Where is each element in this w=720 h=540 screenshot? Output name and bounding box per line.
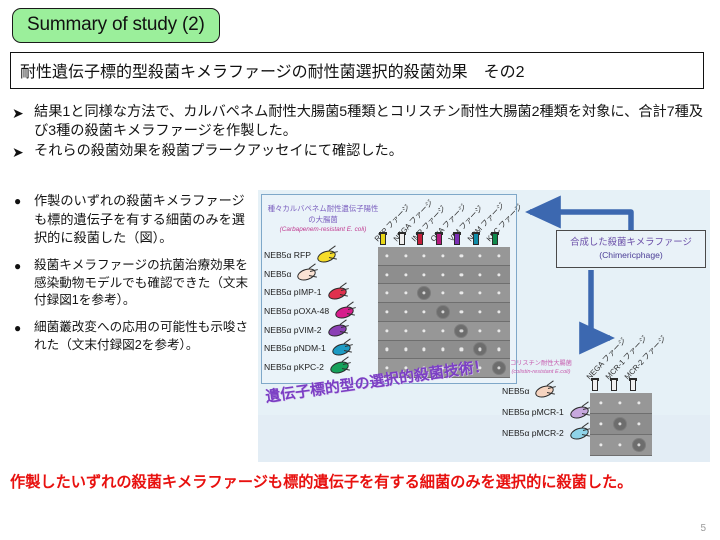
strain-label: NEB5α pMCR-1 — [502, 407, 564, 417]
phage-tube-icon — [454, 232, 460, 245]
bacteria-icon — [326, 323, 347, 336]
colistin-title-en: (colistin-resistant E.coli) — [502, 369, 580, 377]
carbapenem-panel-title: 種々カルバペネム耐性遺伝子陽性の大腸菌 (Carbapenem-resistan… — [264, 204, 382, 235]
assay-spot — [423, 348, 426, 351]
summary-of-study-tag: Summary of study (2) — [12, 8, 220, 43]
assay-spot — [460, 254, 463, 257]
bacteria-icon — [533, 384, 554, 397]
strain-label: NEB5α pMCR-2 — [502, 428, 564, 438]
assay-spot — [423, 329, 426, 332]
arrow-bullet-text: 結果1と同様な方法で、カルバペネム耐性大腸菌5種類とコリスチン耐性大腸菌2種類を… — [34, 103, 712, 141]
strain-row: NEB5α pMCR-1 — [502, 401, 588, 422]
colistin-strain-list: NEB5αNEB5α pMCR-1NEB5α pMCR-2 — [502, 380, 588, 443]
arrow-bullet-icon: ➤ — [12, 103, 34, 123]
strain-row: NEB5α pVIM-2 — [264, 320, 384, 339]
strain-row: NEB5α pMCR-2 — [502, 422, 588, 443]
phage-tube-icon — [492, 232, 498, 245]
strain-row: NEB5α pNDM-1 — [264, 339, 384, 358]
assay-spot — [478, 310, 481, 313]
strain-label: NEB5α pKPC-2 — [264, 362, 324, 372]
assay-spot — [478, 329, 481, 332]
gel-row — [378, 247, 510, 266]
carbapenem-strain-list: NEB5α RFPNEB5αNEB5α pIMP-1NEB5α pOXA-48N… — [264, 246, 384, 376]
plaque-spot — [632, 438, 646, 452]
dot-bullet-icon: ● — [14, 319, 34, 337]
colistin-title-jp: コリスチン耐性大腸菌 — [502, 360, 580, 369]
gel-row — [590, 393, 652, 414]
assay-spot — [441, 254, 444, 257]
assay-spot — [497, 292, 500, 295]
phage-tube-icon — [630, 378, 636, 391]
plaque-spot — [454, 324, 468, 338]
strain-row: NEB5α — [264, 265, 384, 284]
assay-spot — [441, 273, 444, 276]
chimeric-phage-box: 合成した殺菌キメラファージ (Chimericphage) — [556, 230, 706, 268]
phage-tube-icon — [592, 378, 598, 391]
dot-bullet-icon: ● — [14, 192, 34, 210]
conclusion-statement: 作製したいずれの殺菌キメラファージも標的遺伝子を有する細菌のみを選択的に殺菌した… — [10, 470, 716, 492]
phage-tube-icon — [417, 232, 423, 245]
assay-spot — [599, 422, 602, 425]
phage-tube-icon — [399, 232, 405, 245]
strain-row: NEB5α RFP — [264, 246, 384, 265]
assay-spot — [637, 401, 640, 404]
bacteria-icon — [333, 305, 354, 318]
assay-spot — [497, 273, 500, 276]
colistin-panel: コリスチン耐性大腸菌 (colistin-resistant E.coli) N… — [502, 338, 707, 458]
assay-spot — [460, 310, 463, 313]
phage-tube-icon — [380, 232, 386, 245]
assay-spot — [478, 292, 481, 295]
assay-spot — [599, 443, 602, 446]
carbapenem-title-en: (Carbapenem-resistant E. coli) — [264, 225, 382, 234]
colistin-panel-title: コリスチン耐性大腸菌 (colistin-resistant E.coli) — [502, 360, 580, 377]
assay-spot — [404, 254, 407, 257]
assay-spot — [618, 443, 621, 446]
assay-spot — [404, 310, 407, 313]
colistin-plaque-assay-gel — [590, 393, 652, 456]
assay-spot — [460, 273, 463, 276]
strain-label: NEB5α — [502, 386, 529, 396]
plaque-spot — [417, 286, 431, 300]
dot-bullet-list: ● 作製のいずれの殺菌キメラファージも標的遺伝子を有する細菌のみを選択的に殺菌し… — [14, 192, 250, 363]
assay-spot — [478, 254, 481, 257]
assay-spot — [441, 348, 444, 351]
assay-spot — [637, 422, 640, 425]
slide-canvas: Summary of study (2) 耐性遺伝子標的型殺菌キメラファージの耐… — [0, 0, 720, 540]
assay-spot — [385, 292, 388, 295]
strain-label: NEB5α pNDM-1 — [264, 343, 326, 353]
dot-bullet-text: 細菌叢改変への応用の可能性も示唆された（文末付録図2を参考）。 — [34, 319, 250, 354]
assay-spot — [460, 348, 463, 351]
strain-row: NEB5α — [502, 380, 588, 401]
chimeric-phage-label-en: (Chimericphage) — [559, 249, 703, 262]
arrow-bullet-item: ➤ 結果1と同様な方法で、カルバペネム耐性大腸菌5種類とコリスチン耐性大腸菌2種… — [12, 103, 712, 141]
bacteria-icon — [328, 360, 349, 373]
strain-label: NEB5α pVIM-2 — [264, 325, 322, 335]
strain-row: NEB5α pOXA-48 — [264, 302, 384, 321]
assay-spot — [497, 348, 500, 351]
assay-spot — [385, 254, 388, 257]
arrow-bullet-icon: ➤ — [12, 142, 34, 162]
assay-spot — [404, 292, 407, 295]
assay-spot — [404, 329, 407, 332]
assay-spot — [618, 401, 621, 404]
bacteria-icon — [568, 426, 589, 439]
assay-spot — [423, 254, 426, 257]
assay-spot — [385, 310, 388, 313]
assay-spot — [441, 329, 444, 332]
assay-spot — [478, 273, 481, 276]
strain-row: NEB5α pIMP-1 — [264, 283, 384, 302]
assay-spot — [404, 348, 407, 351]
strain-label: NEB5α pOXA-48 — [264, 306, 329, 316]
gel-row — [378, 341, 510, 360]
assay-spot — [497, 329, 500, 332]
carbapenem-plaque-assay-gel — [378, 247, 510, 378]
arrow-bullet-list: ➤ 結果1と同様な方法で、カルバペネム耐性大腸菌5種類とコリスチン耐性大腸菌2種… — [12, 103, 712, 163]
gel-row — [378, 303, 510, 322]
assay-spot — [423, 310, 426, 313]
slide-subtitle-bar: 耐性遺伝子標的型殺菌キメラファージの耐性菌選択的殺菌効果 その2 — [10, 52, 704, 89]
dot-bullet-icon: ● — [14, 257, 34, 275]
gel-row — [590, 414, 652, 435]
gel-row — [378, 322, 510, 341]
plaque-spot — [613, 417, 627, 431]
assay-spot — [423, 273, 426, 276]
assay-spot — [497, 254, 500, 257]
experiment-figure: 種々カルバペネム耐性遺伝子陽性の大腸菌 (Carbapenem-resistan… — [258, 190, 710, 462]
phage-tube-icon — [473, 232, 479, 245]
assay-spot — [385, 329, 388, 332]
chimeric-phage-label-jp: 合成した殺菌キメラファージ — [559, 235, 703, 249]
assay-spot — [441, 292, 444, 295]
assay-spot — [385, 273, 388, 276]
assay-spot — [599, 401, 602, 404]
gel-row — [378, 266, 510, 285]
bacteria-icon — [326, 286, 347, 299]
phage-tube-icon — [611, 378, 617, 391]
bacteria-icon — [315, 249, 336, 262]
strain-label: NEB5α RFP — [264, 250, 311, 260]
assay-spot — [404, 273, 407, 276]
dot-bullet-text: 殺菌キメラファージの抗菌治療効果を感染動物モデルでも確認できた（文末付録図1を参… — [34, 257, 250, 310]
page-number: 5 — [700, 523, 706, 534]
assay-spot — [385, 348, 388, 351]
carbapenem-title-jp: 種々カルバペネム耐性遺伝子陽性の大腸菌 — [264, 204, 382, 225]
bacteria-icon — [295, 267, 316, 280]
arrow-bullet-item: ➤ それらの殺菌効果を殺菌プラークアッセイにて確認した。 — [12, 142, 712, 162]
dot-bullet-text: 作製のいずれの殺菌キメラファージも標的遺伝子を有する細菌のみを選択的に殺菌した（… — [34, 192, 250, 248]
assay-spot — [497, 310, 500, 313]
dot-bullet-item: ● 細菌叢改変への応用の可能性も示唆された（文末付録図2を参考）。 — [14, 319, 250, 354]
dot-bullet-item: ● 殺菌キメラファージの抗菌治療効果を感染動物モデルでも確認できた（文末付録図1… — [14, 257, 250, 310]
assay-spot — [460, 292, 463, 295]
phage-tube-icon — [436, 232, 442, 245]
plaque-spot — [436, 305, 450, 319]
bacteria-icon — [330, 342, 351, 355]
gel-row — [590, 435, 652, 456]
bacteria-icon — [568, 405, 589, 418]
strain-label: NEB5α pIMP-1 — [264, 287, 322, 297]
strain-label: NEB5α — [264, 269, 291, 279]
gel-row — [378, 284, 510, 303]
dot-bullet-item: ● 作製のいずれの殺菌キメラファージも標的遺伝子を有する細菌のみを選択的に殺菌し… — [14, 192, 250, 248]
arrow-bullet-text: それらの殺菌効果を殺菌プラークアッセイにて確認した。 — [34, 142, 712, 161]
colistin-phage-labels: NEGA ファージMCR-1 ファージMCR-2 ファージ — [586, 338, 696, 382]
